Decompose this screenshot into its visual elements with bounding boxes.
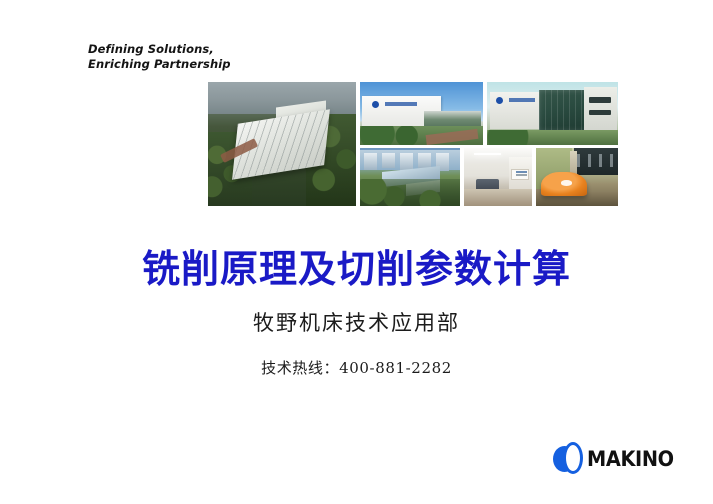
campus-greenery xyxy=(360,179,460,206)
photo-plant-exterior xyxy=(360,82,483,145)
photo-campus-aerial xyxy=(360,148,460,206)
photo-reception-lobby xyxy=(536,148,618,206)
makino-mark-icon xyxy=(553,442,585,476)
green-glass-facade xyxy=(539,90,589,132)
tower-window-upper xyxy=(589,97,611,103)
tower-block xyxy=(382,153,395,168)
building-logo-text xyxy=(385,102,417,106)
presentation-slide: Defining Solutions, Enriching Partnershi… xyxy=(0,0,713,504)
logo-lens-shape xyxy=(563,442,583,474)
building-logo-text xyxy=(509,98,535,102)
makino-logo: MAKINO xyxy=(553,438,657,480)
photo-office-interior xyxy=(464,148,532,206)
front-lawn xyxy=(487,130,618,145)
photo-glass-building xyxy=(487,82,618,145)
tower-window-lower xyxy=(589,110,611,116)
tower-block xyxy=(364,153,377,170)
slide-main-title: 铣削原理及切削参数计算 xyxy=(0,246,713,292)
tower-block xyxy=(418,153,431,169)
photo-aerial-factory xyxy=(208,82,356,206)
desk-logo-icon xyxy=(561,180,572,185)
office-floor xyxy=(464,189,532,206)
makino-wordmark: MAKINO xyxy=(587,447,674,471)
technical-hotline: 技术热线：400-881-2282 xyxy=(0,358,713,379)
lobby-display-panel xyxy=(574,148,618,175)
slide-subtitle: 牧野机床技术应用部 xyxy=(0,310,713,337)
ceiling-light xyxy=(474,153,501,155)
wall-sign-line xyxy=(516,174,528,176)
wall-sign-line xyxy=(516,171,528,173)
